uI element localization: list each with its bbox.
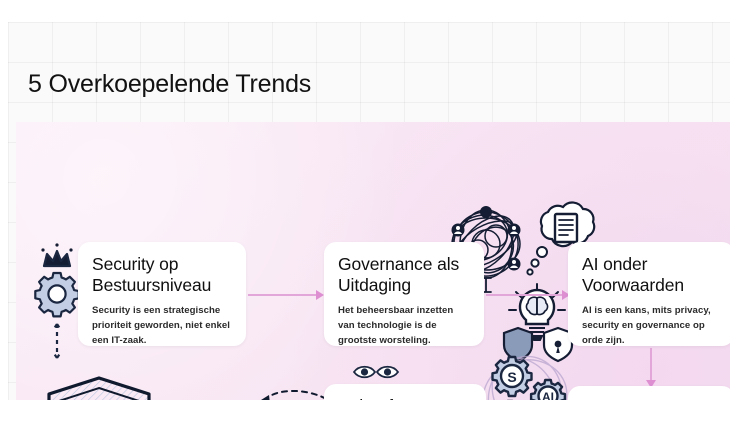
trend-card-governance-als-uitdaging[interactable]: Governance als Uitdaging Het beheersbaar… [324, 242, 484, 346]
trend-card-behoefte-aan-overzicht[interactable]: Behoefte aan Overzicht Instellingen zoek… [324, 384, 486, 400]
content-panel: GOALS [16, 122, 730, 400]
card-body: Security is een strategische prioriteit … [92, 303, 232, 348]
eyes-icon [352, 360, 400, 384]
trend-card-security-ai-verweven[interactable]: Security & AI Verweven Veilige AI is onm… [568, 386, 730, 400]
card-title: Behoefte aan Overzicht [338, 396, 472, 400]
trend-card-security-op-bestuursniveau[interactable]: Security op Bestuursniveau Security is e… [78, 242, 246, 346]
connector-card3-to-card4 [646, 348, 656, 388]
page-title: 5 Overkoepelende Trends [28, 70, 311, 99]
arrow-line [248, 294, 318, 296]
card-title: Governance als Uitdaging [338, 254, 470, 297]
arrow-line [650, 348, 652, 382]
card-body: Het beheersbaar inzetten van technologie… [338, 303, 470, 348]
card-title: AI onder Voorwaarden [582, 254, 720, 297]
svg-text:AI: AI [542, 390, 554, 400]
connector-card1-to-card2 [248, 290, 324, 300]
arrow-line [486, 294, 564, 296]
crown-gear-icon [26, 240, 86, 360]
card-body: AI is een kans, mits privacy, security e… [582, 303, 720, 348]
arrow-head [316, 290, 324, 300]
slide-frame: 5 Overkoepelende Trends [8, 22, 730, 400]
trend-card-ai-onder-voorwaarden[interactable]: AI onder Voorwaarden AI is een kans, mit… [568, 242, 730, 346]
gears-sai-icon: S AI [478, 348, 572, 400]
connector-card2-to-card3 [486, 290, 570, 300]
shield-lock-icon [38, 372, 160, 400]
dashed-path-icon [260, 384, 334, 400]
card-title: Security & AI Verweven [582, 398, 720, 400]
slide-canvas: 5 Overkoepelende Trends [0, 0, 738, 442]
svg-text:S: S [507, 369, 516, 385]
card-title: Security op Bestuursniveau [92, 254, 232, 297]
